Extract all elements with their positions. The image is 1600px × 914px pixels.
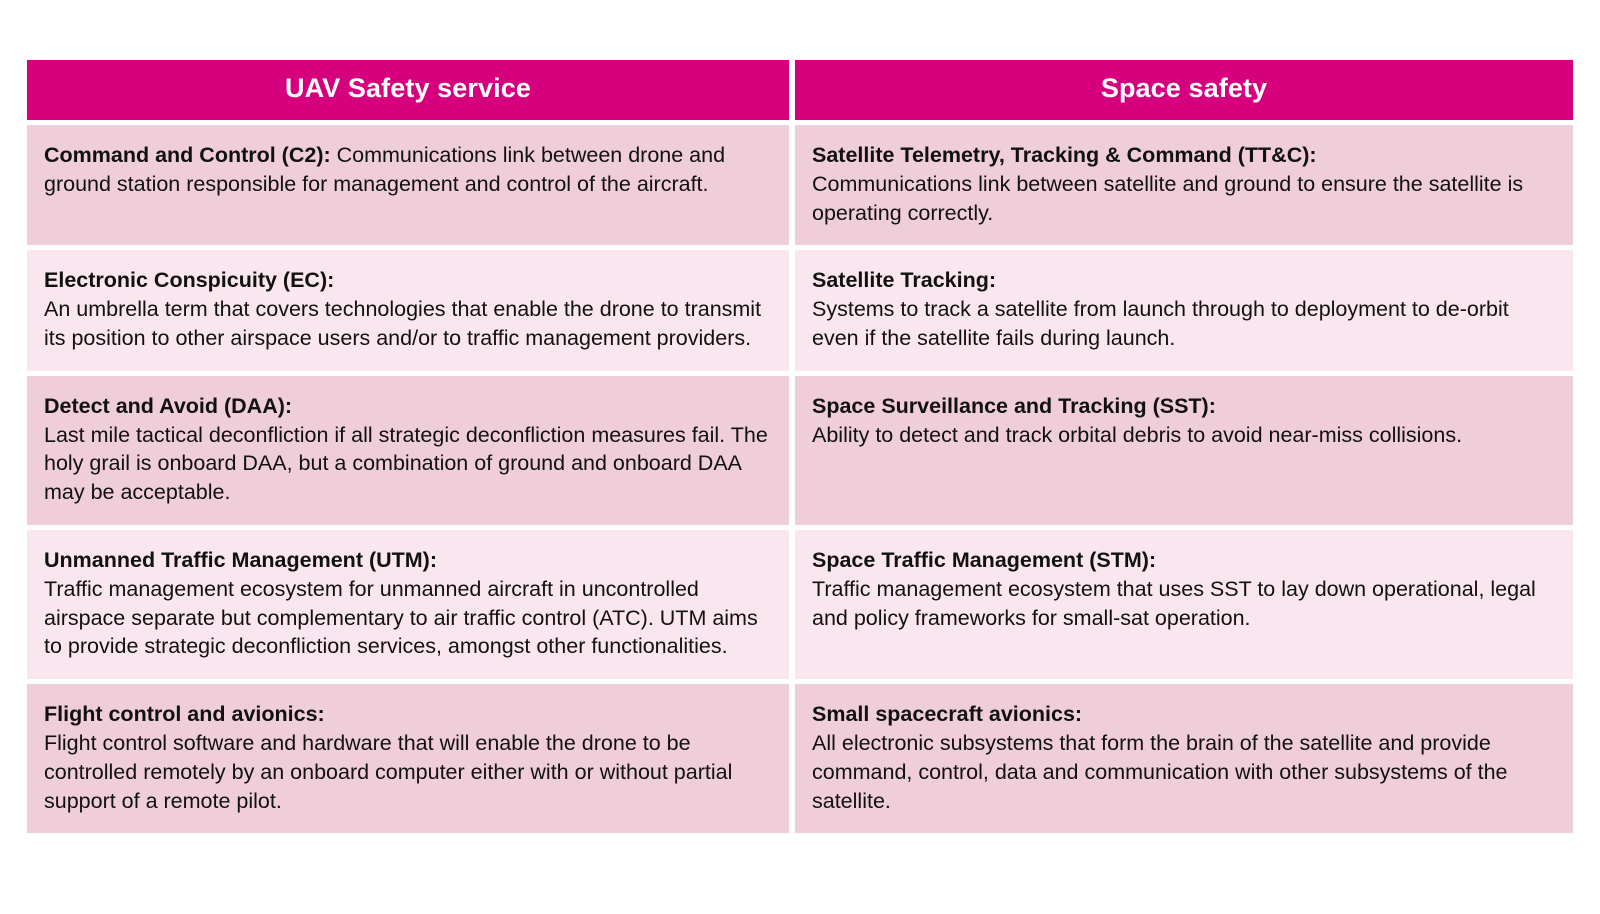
table-row: Command and Control (C2): Communications… [27,125,1573,245]
cell-space-surveillance-and-tracking: Space Surveillance and Tracking (SST): A… [795,376,1573,525]
cell-term: Electronic Conspicuity (EC): [44,268,334,292]
cell-term: Unmanned Traffic Management (UTM): [44,548,437,572]
cell-uav-electronic-conspicuity: Electronic Conspicuity (EC): An umbrella… [27,250,789,370]
table-row: Flight control and avionics: Flight cont… [27,684,1573,833]
cell-space-satellite-tracking: Satellite Tracking: Systems to track a s… [795,250,1573,370]
cell-uav-detect-and-avoid: Detect and Avoid (DAA): Last mile tactic… [27,376,789,525]
cell-description: Traffic management ecosystem that uses S… [812,575,1555,633]
table-body: Command and Control (C2): Communications… [27,120,1573,833]
column-header-uav-safety-service: UAV Safety service [27,60,789,120]
column-header-space-safety: Space safety [795,60,1573,120]
cell-term: Space Traffic Management (STM): [812,548,1156,572]
cell-term: Flight control and avionics: [44,702,325,726]
cell-term: Satellite Telemetry, Tracking & Command … [812,143,1317,167]
cell-description: Flight control software and hardware tha… [44,729,771,815]
cell-description: Systems to track a satellite from launch… [812,295,1555,353]
cell-term: Small spacecraft avionics: [812,702,1082,726]
cell-description: Ability to detect and track orbital debr… [812,421,1555,450]
table-row: Unmanned Traffic Management (UTM): Traff… [27,530,1573,679]
table-row: Electronic Conspicuity (EC): An umbrella… [27,250,1573,370]
page-root: UAV Safety service Space safety Command … [0,0,1600,914]
cell-description: Last mile tactical deconfliction if all … [44,421,771,507]
table-row: Detect and Avoid (DAA): Last mile tactic… [27,376,1573,525]
cell-term: Satellite Tracking: [812,268,996,292]
cell-uav-unmanned-traffic-management: Unmanned Traffic Management (UTM): Traff… [27,530,789,679]
cell-term: Space Surveillance and Tracking (SST): [812,394,1216,418]
cell-description: Traffic management ecosystem for unmanne… [44,575,771,661]
cell-description: Communications link between satellite an… [812,170,1555,228]
cell-term: Detect and Avoid (DAA): [44,394,292,418]
header-row: UAV Safety service Space safety [27,60,1573,120]
cell-space-traffic-management: Space Traffic Management (STM): Traffic … [795,530,1573,679]
table-header: UAV Safety service Space safety [27,60,1573,120]
cell-space-satellite-ttc: Satellite Telemetry, Tracking & Command … [795,125,1573,245]
cell-uav-flight-control-and-avionics: Flight control and avionics: Flight cont… [27,684,789,833]
cell-space-small-spacecraft-avionics: Small spacecraft avionics: All electroni… [795,684,1573,833]
cell-term: Command and Control (C2): [44,143,331,167]
cell-uav-command-and-control: Command and Control (C2): Communications… [27,125,789,245]
cell-description: An umbrella term that covers technologie… [44,295,771,353]
comparison-table: UAV Safety service Space safety Command … [27,60,1573,833]
cell-description: All electronic subsystems that form the … [812,729,1555,815]
